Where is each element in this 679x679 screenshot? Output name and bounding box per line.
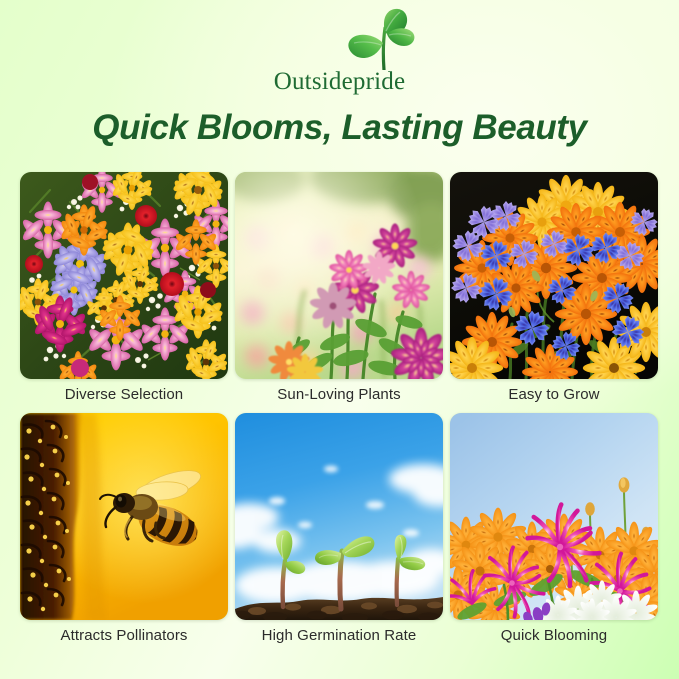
page-title: Quick Blooms, Lasting Beauty [0, 108, 679, 148]
feature-cell-easy-to-grow: Easy to Grow [450, 172, 658, 405]
brand-logo: Outsidepride [245, 6, 435, 98]
feature-caption: Sun-Loving Plants [277, 386, 400, 405]
wildflower-mix-closeup-photo [20, 172, 228, 379]
calendula-cornflower-bouquet-photo [450, 172, 658, 379]
feature-cell-quick-blooming: Quick Blooming [450, 413, 658, 646]
honeybee-on-sunflower-photo [20, 413, 228, 620]
feature-cell-attracts-pollinators: Attracts Pollinators [20, 413, 228, 646]
feature-cell-sun-loving-plants: Sun-Loving Plants [235, 172, 443, 405]
feature-grid: Diverse Selection [20, 172, 659, 646]
feature-caption: Quick Blooming [501, 627, 607, 646]
brand-wordmark: Outsidepride [245, 69, 435, 94]
sunlit-zinnia-field-photo [235, 172, 443, 379]
feature-caption: Easy to Grow [508, 386, 599, 405]
feature-caption: High Germination Rate [262, 627, 417, 646]
infographic-page: Outsidepride Quick Blooms, Lasting Beaut… [0, 0, 679, 679]
sprout-leaves-icon [328, 8, 420, 70]
feature-caption: Attracts Pollinators [60, 627, 187, 646]
feature-caption: Diverse Selection [65, 386, 183, 405]
three-seedlings-blue-sky-photo [235, 413, 443, 620]
orange-pink-flowers-sky-photo [450, 413, 658, 620]
feature-cell-high-germination-rate: High Germination Rate [235, 413, 443, 646]
feature-cell-diverse-selection: Diverse Selection [20, 172, 228, 405]
brand-header: Outsidepride [0, 0, 679, 104]
